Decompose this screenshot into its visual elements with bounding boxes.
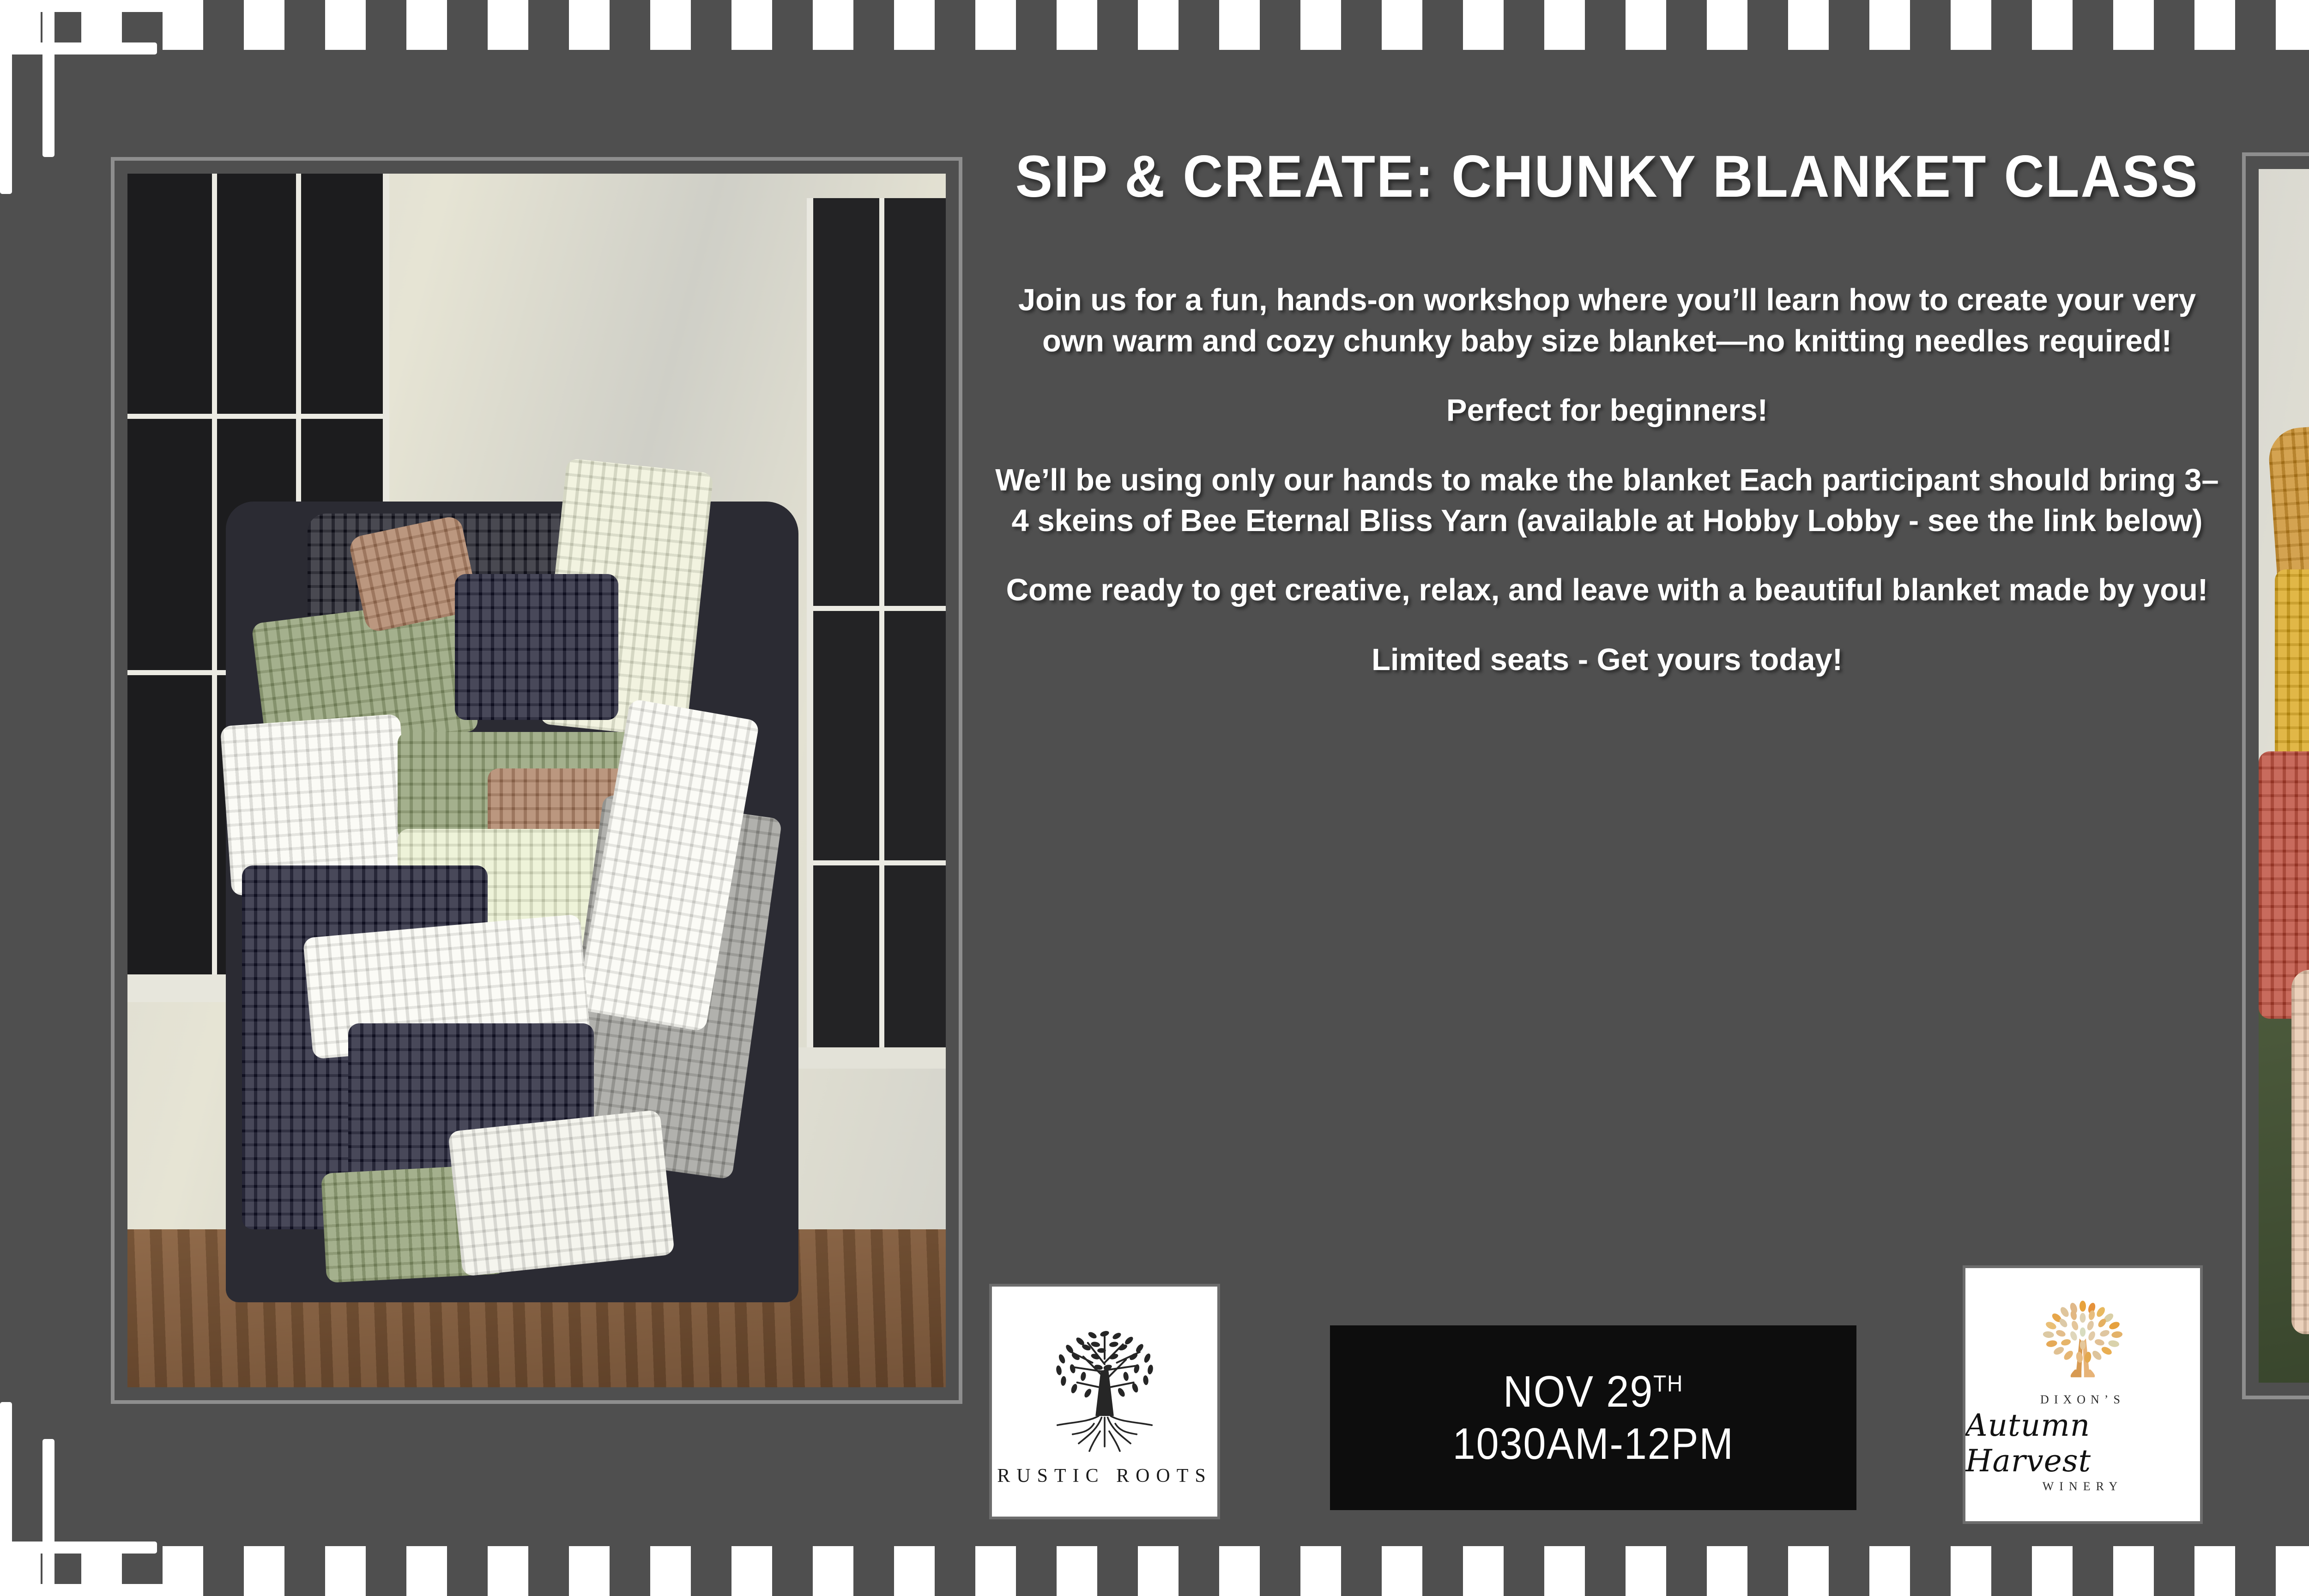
photo-right-blanket xyxy=(2242,152,2309,1399)
window-sill-right xyxy=(790,1047,946,1069)
date-ordinal-suffix: TH xyxy=(1653,1371,1683,1396)
paragraph-beginners: Perfect for beginners! xyxy=(988,390,2226,431)
logo-dixons-autumn-harvest-winery[interactable]: DIXON’S Autumn Harvest WINERY xyxy=(1963,1265,2203,1524)
tree-with-roots-icon xyxy=(1028,1317,1181,1462)
flyer-canvas: SIP & CREATE: CHUNKY BLANKET CLASS Join … xyxy=(0,0,2309,1596)
dashed-border-top xyxy=(0,0,2309,50)
page-title: SIP & CREATE: CHUNKY BLANKET CLASS xyxy=(1015,147,2199,207)
event-time: 1030AM-12PM xyxy=(1452,1418,1734,1470)
date-time-banner: NOV 29TH 1030AM-12PM xyxy=(1330,1325,1856,1510)
event-date: NOV 29TH xyxy=(1503,1366,1683,1418)
paragraph-cta: Limited seats - Get yours today! xyxy=(988,640,2226,680)
footer-row: RUSTIC ROOTS NOV 29TH 1030AM-12PM xyxy=(965,1279,2249,1556)
logo-winery-line1: DIXON’S xyxy=(2040,1393,2125,1407)
logo-rustic-roots[interactable]: RUSTIC ROOTS xyxy=(989,1284,1220,1519)
autumn-tree-icon xyxy=(2018,1296,2147,1393)
blanket-stripe xyxy=(455,574,618,719)
paragraph-materials: We’ll be using only our hands to make th… xyxy=(988,460,2226,542)
paragraph-closing: Come ready to get creative, relax, and l… xyxy=(988,570,2226,611)
corner-bracket-top-left xyxy=(0,0,194,194)
blanket-stripe xyxy=(2291,970,2309,1334)
logo-winery-line2: Autumn Harvest xyxy=(1965,1408,2200,1479)
photo-left-blanket xyxy=(111,157,962,1404)
window-right-icon xyxy=(807,198,946,1048)
blanket-stripe xyxy=(448,1110,675,1277)
logo-rustic-roots-label: RUSTIC ROOTS xyxy=(997,1465,1212,1487)
paragraph-intro: Join us for a fun, hands-on workshop whe… xyxy=(988,280,2226,362)
body-copy: Join us for a fun, hands-on workshop whe… xyxy=(988,280,2226,680)
logo-winery-line3: WINERY xyxy=(2043,1480,2123,1493)
corner-bracket-bottom-left xyxy=(0,1402,194,1596)
